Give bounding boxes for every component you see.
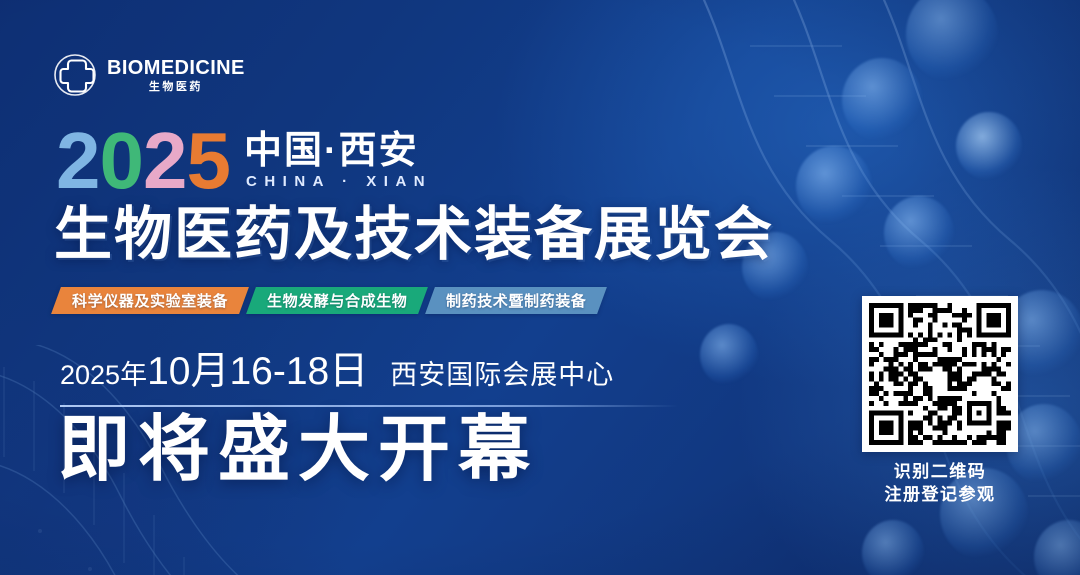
exhibition-poster: BIOMEDICINE 生物医药 2 0 2 5 中国·西安 CHINA · X…	[0, 0, 1080, 575]
year-2025: 2 0 2 5	[56, 126, 230, 196]
ribbon-fermentation: 生物发酵与合成生物	[246, 287, 428, 314]
year-city-block: 2 0 2 5 中国·西安 CHINA · XIAN	[56, 126, 432, 196]
ribbon-instruments-label: 科学仪器及实验室装备	[72, 290, 228, 311]
year-digit-1: 2	[56, 126, 100, 196]
logo-english-name: BIOMEDICINE	[107, 58, 245, 78]
brand-logo: BIOMEDICINE 生物医药	[52, 52, 245, 98]
event-date-row: 2025年 10月16-18日 西安国际会展中心	[60, 340, 720, 396]
qr-caption-line-2: 注册登记参观	[885, 484, 996, 507]
slogan-text: 即将盛大开幕	[58, 412, 538, 488]
year-digit-3: 2	[143, 126, 187, 196]
logo-chinese-name: 生物医药	[107, 82, 245, 93]
event-venue: 西安国际会展中心	[390, 353, 614, 392]
category-ribbons: 科学仪器及实验室装备 生物发酵与合成生物 制药技术暨制药装备	[56, 287, 603, 314]
main-title: 生物医药及技术装备展览会	[54, 204, 774, 267]
city-name-cn: 中国·西安	[244, 132, 432, 171]
event-info-block: 2025年 10月16-18日 西安国际会展中心	[60, 340, 720, 407]
qr-code-frame[interactable]	[862, 296, 1018, 452]
year-digit-2: 0	[100, 126, 144, 196]
event-year: 2025年	[60, 353, 147, 392]
city-name-en: CHINA · XIAN	[244, 173, 432, 190]
city-block: 中国·西安 CHINA · XIAN	[244, 132, 432, 197]
ribbon-fermentation-label: 生物发酵与合成生物	[267, 290, 407, 311]
qr-code-icon[interactable]	[869, 303, 1011, 445]
year-digit-4: 5	[187, 126, 231, 196]
qr-caption: 识别二维码 注册登记参观	[885, 461, 996, 507]
divider-rule	[60, 405, 678, 407]
ribbon-pharma-tech-label: 制药技术暨制药装备	[446, 290, 586, 311]
qr-registration-panel[interactable]: 识别二维码 注册登记参观	[862, 296, 1018, 507]
medical-cross-in-circle-icon	[52, 52, 98, 98]
ribbon-pharma-tech: 制药技术暨制药装备	[426, 287, 608, 314]
ribbon-instruments: 科学仪器及实验室装备	[51, 287, 249, 314]
event-dates: 10月16-18日	[147, 340, 368, 396]
qr-caption-line-1: 识别二维码	[885, 461, 996, 484]
